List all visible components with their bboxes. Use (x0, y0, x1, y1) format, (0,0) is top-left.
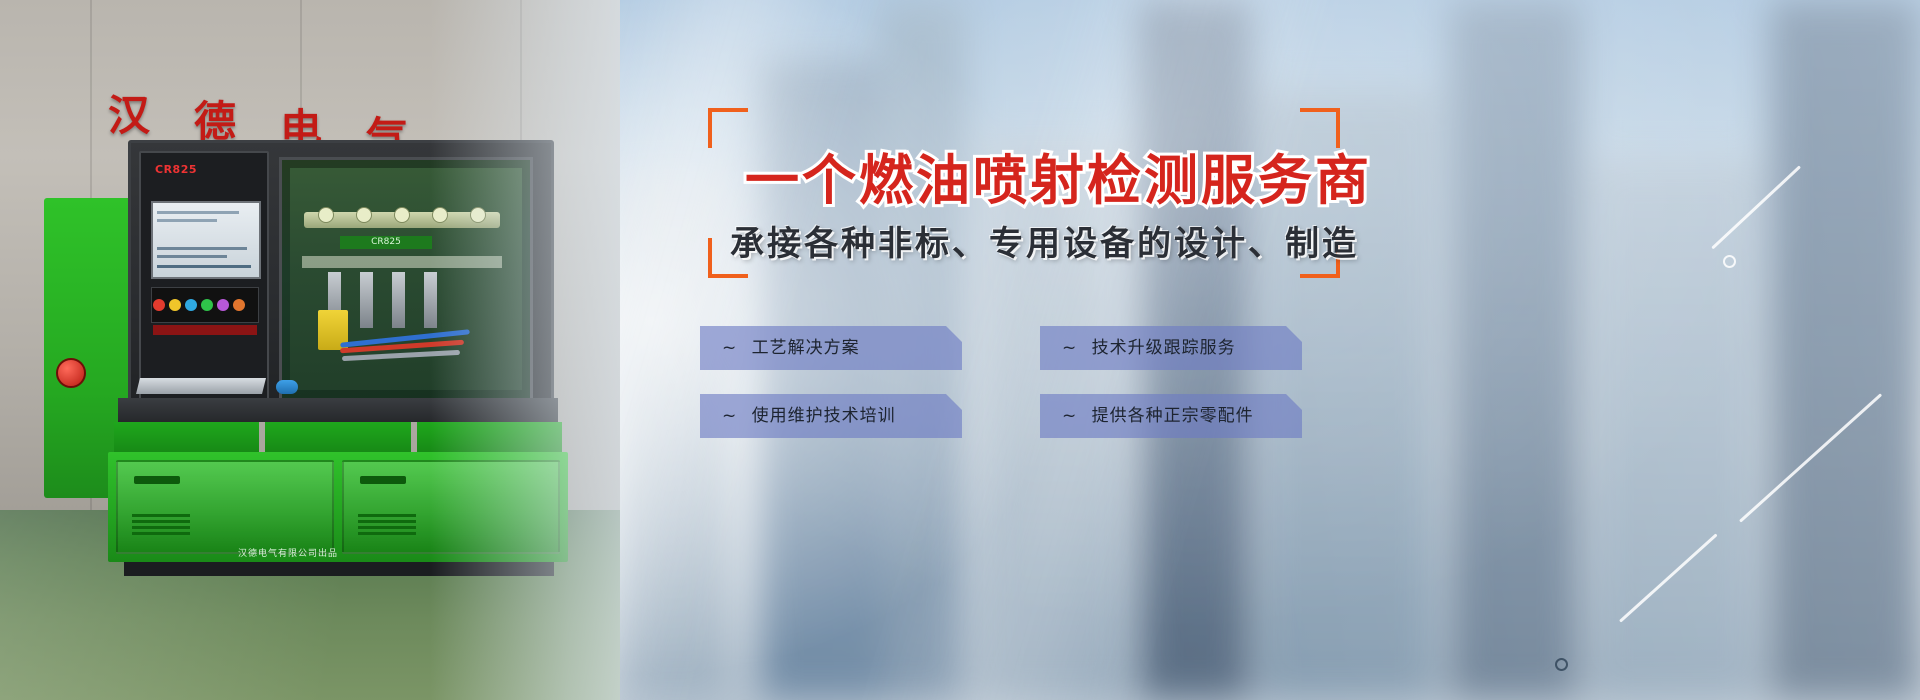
circle-outline-bottom-icon (1555, 658, 1568, 671)
banner-headline: 一个燃油喷射检测服务商 (745, 136, 1372, 215)
cabinet-vent-right (358, 514, 416, 536)
indicator-button-6 (233, 299, 245, 311)
banner-subheadline: 承接各种非标、专用设备的设计、制造 (730, 216, 1359, 265)
feature-tag-maintenance-training[interactable]: ~ 使用维护技术培训 (700, 394, 962, 438)
screen-line-3 (157, 247, 247, 250)
feature-tag-genuine-parts[interactable]: ~ 提供各种正宗零配件 (1040, 394, 1302, 438)
indicator-button-5 (217, 299, 229, 311)
cabinet-vent-left (132, 514, 190, 536)
indicator-button-4 (201, 299, 213, 311)
rail-nozzle-3 (394, 207, 410, 223)
indicator-button-2 (169, 299, 181, 311)
keyboard-tray (136, 378, 266, 394)
chamber-model-label: CR825 (340, 236, 432, 249)
photo-fade-overlay (430, 0, 620, 700)
cabinet-handle-right (360, 476, 406, 484)
control-screen (151, 201, 261, 279)
tag-label-4: 提供各种正宗零配件 (1092, 406, 1254, 426)
mouse (276, 380, 298, 394)
control-panel: CR825 (139, 151, 269, 405)
circle-outline-top-icon (1723, 255, 1736, 268)
screen-line-4 (157, 255, 227, 258)
feature-tag-process-solution[interactable]: ~ 工艺解决方案 (700, 326, 962, 370)
machine-model-badge: CR825 (155, 163, 197, 176)
screen-line-1 (157, 211, 239, 214)
tag-label-2: 技术升级跟踪服务 (1092, 338, 1236, 358)
panel-indicator-buttons (153, 299, 257, 311)
injector-2 (360, 272, 373, 328)
indicator-button-1 (153, 299, 165, 311)
tag-label-1: 工艺解决方案 (752, 338, 860, 358)
tag-label-3: 使用维护技术培训 (752, 406, 896, 426)
tag-prefix-3: ~ (722, 406, 737, 426)
indicator-button-3 (185, 299, 197, 311)
product-photo: 汉 德 电 气 CR825 (0, 0, 620, 700)
tag-prefix-2: ~ (1062, 338, 1077, 358)
injector-3 (392, 272, 405, 328)
tag-prefix-4: ~ (1062, 406, 1077, 426)
feature-tag-list: ~ 工艺解决方案 ~ 技术升级跟踪服务 ~ 使用维护技术培训 ~ 提供各种正宗零… (700, 326, 1310, 438)
lower-cabinet-door-left (116, 460, 334, 554)
rail-nozzle-1 (318, 207, 334, 223)
emergency-stop-button-icon (56, 358, 86, 388)
green-drawer-1 (114, 422, 259, 452)
screen-line-2 (157, 219, 217, 222)
feature-tag-tech-upgrade-service[interactable]: ~ 技术升级跟踪服务 (1040, 326, 1302, 370)
tag-prefix-1: ~ (722, 338, 737, 358)
panel-led-strip (153, 325, 257, 335)
cabinet-handle-left (134, 476, 180, 484)
screen-line-5 (157, 265, 251, 268)
machine-manufacturer-text: 汉德电气有限公司出品 (238, 546, 338, 559)
hero-banner: 汉 德 电 气 CR825 (0, 0, 1920, 700)
banner-content: 一个燃油喷射检测服务商 承接各种非标、专用设备的设计、制造 ~ 工艺解决方案 ~… (690, 0, 1590, 700)
green-drawer-2 (265, 422, 410, 452)
rail-nozzle-2 (356, 207, 372, 223)
